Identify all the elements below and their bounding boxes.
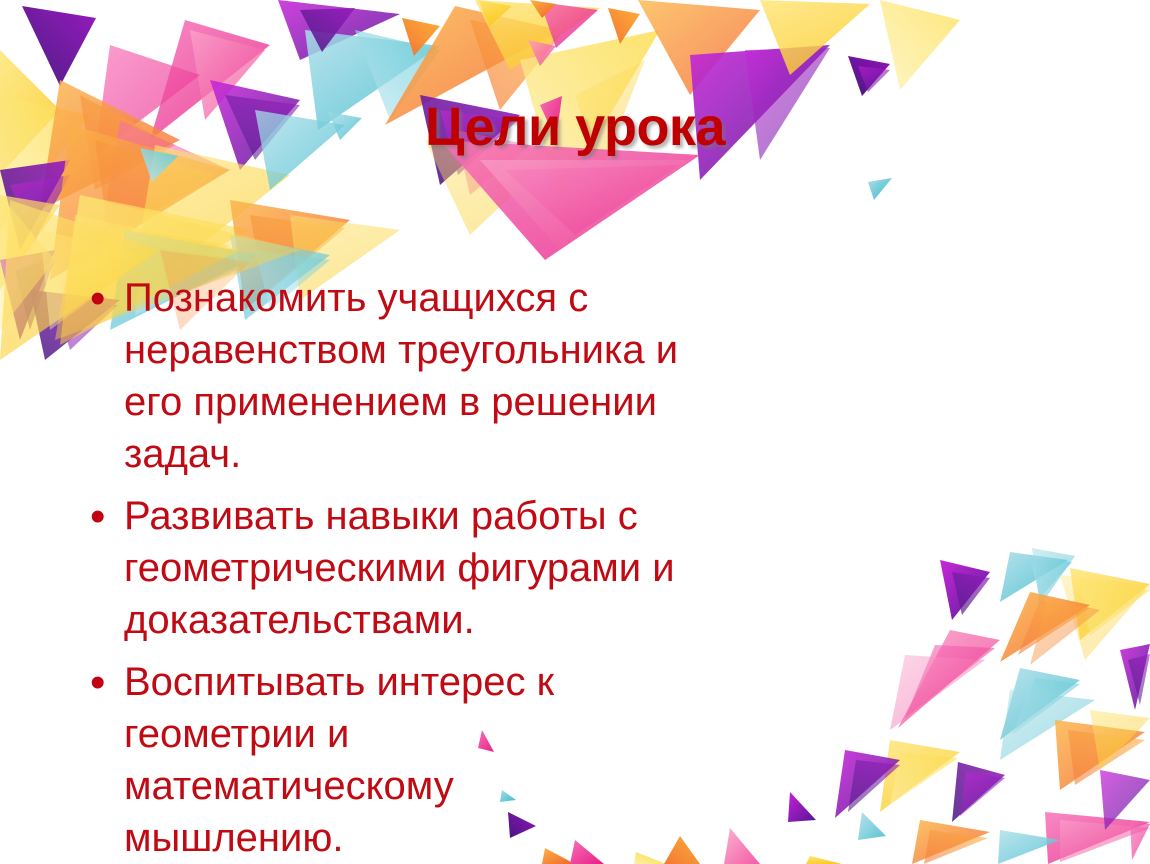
- bullet-marker-icon: •: [78, 656, 124, 710]
- list-item: • Познакомить учащихся с неравенством тр…: [78, 272, 1088, 480]
- list-item: • Развивать навыки работы с геометрическ…: [78, 490, 1088, 646]
- list-item: • Воспитывать интерес к геометрии и мате…: [78, 656, 1088, 864]
- objective-text: Познакомить учащихся с неравенством треу…: [124, 272, 699, 480]
- bullet-marker-icon: •: [78, 272, 124, 326]
- objectives-list: • Познакомить учащихся с неравенством тр…: [78, 272, 1088, 864]
- presentation-slide: Цели урока • Познакомить учащихся с нера…: [0, 0, 1150, 864]
- objective-text: Развивать навыки работы с геометрическим…: [124, 490, 744, 646]
- objective-text: Воспитывать интерес к геометрии и матема…: [124, 656, 644, 864]
- bullet-marker-icon: •: [78, 490, 124, 544]
- page-title: Цели урока: [0, 96, 1150, 158]
